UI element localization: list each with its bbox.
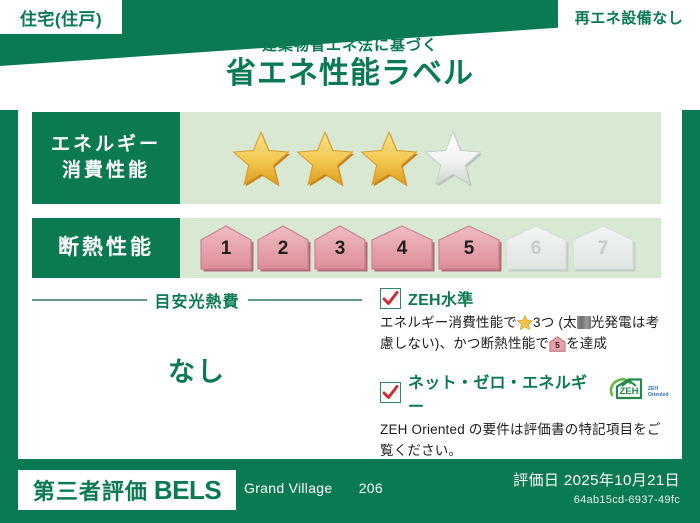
- rule-left: [32, 299, 147, 301]
- rule-right: [248, 299, 363, 301]
- insulation-performance-label: 断熱性能: [32, 218, 180, 278]
- header-title-group: 建築物省エネ法に基づく 省エネ性能ラベル: [0, 34, 700, 104]
- star-filled-icon: [232, 130, 290, 186]
- svg-text:Oriented: Oriented: [648, 392, 669, 398]
- estimated-utility-cost-heading: 目安光熱費: [32, 288, 362, 312]
- svg-text:ZEH: ZEH: [620, 386, 639, 397]
- criterion-zeh-standard-header: ZEH水準: [380, 286, 670, 310]
- insulation-level-inactive: 6: [503, 224, 569, 272]
- estimated-utility-cost-title: 目安光熱費: [155, 288, 240, 312]
- energy-label-line2: 消費性能: [62, 158, 150, 184]
- bels-energy-label: 住宅(住戸) 再エネ設備なし 建築物省エネ法に基づく 省エネ性能ラベル エネルギ…: [0, 0, 700, 523]
- energy-performance-row: エネルギー 消費性能: [32, 112, 661, 204]
- house-shape-icon: [255, 224, 311, 272]
- criterion-zeh-standard: ZEH水準 エネルギー消費性能で3つ (太光発電は考慮しない)、かつ断熱性能で5…: [380, 286, 670, 355]
- evaluation-date-label: 評価日: [513, 472, 559, 489]
- tag-renewable-equipment: 再エネ設備なし: [558, 0, 700, 34]
- insulation-level-active: 5: [436, 224, 502, 272]
- insulation-level-inactive: 7: [570, 224, 636, 272]
- house-shape-icon: [503, 224, 569, 272]
- project-info: Grand Village 206: [244, 480, 383, 496]
- criterion-net-zero-energy-header: ネット・ゼロ・エネルギー ZEH ZEH Oriented: [380, 369, 670, 417]
- bels-third-party-label: 第三者評価: [33, 474, 148, 506]
- insulation-level-active: 1: [198, 224, 254, 272]
- tag-building-type: 住宅(住戸): [0, 0, 122, 34]
- star-filled-icon: [296, 130, 354, 186]
- star-filled-icon: [360, 130, 418, 186]
- criterion-zeh-standard-title: ZEH水準: [408, 286, 474, 310]
- insulation-level-active: 4: [369, 224, 435, 272]
- estimated-utility-cost-value: なし: [32, 350, 362, 389]
- criteria-block: ZEH水準 エネルギー消費性能で3つ (太光発電は考慮しない)、かつ断熱性能で5…: [380, 286, 670, 472]
- header-subtitle: 建築物省エネ法に基づく: [0, 38, 700, 55]
- star-rating: [180, 130, 482, 186]
- bels-badge: 第三者評価 BELS: [18, 470, 236, 510]
- evaluation-info: 評価日 2025年10月21日 64ab15cd-6937-49fc: [513, 469, 680, 506]
- criterion-net-zero-energy: ネット・ゼロ・エネルギー ZEH ZEH Oriented ZEH Orient…: [380, 369, 670, 462]
- bels-logo-text: BELS: [154, 475, 221, 506]
- evaluation-id: 64ab15cd-6937-49fc: [513, 494, 680, 506]
- inline-house-level-icon: 5: [549, 336, 566, 352]
- project-name: Grand Village: [244, 480, 332, 496]
- star-empty-icon: [424, 130, 482, 186]
- house-shape-icon: [369, 224, 435, 272]
- energy-rating-content: [180, 112, 661, 204]
- house-shape-icon: [436, 224, 502, 272]
- criterion-zeh-standard-body: エネルギー消費性能で3つ (太光発電は考慮しない)、かつ断熱性能で5を達成: [380, 313, 670, 355]
- footer-bar: 第三者評価 BELS Grand Village 206 評価日 2025年10…: [0, 459, 700, 523]
- house-shape-icon: [570, 224, 636, 272]
- criterion-net-zero-energy-title: ネット・ゼロ・エネルギー: [408, 369, 599, 417]
- evaluation-date-line: 評価日 2025年10月21日: [513, 469, 680, 490]
- insulation-rating-content: 1234567: [180, 218, 661, 278]
- house-shape-icon: [198, 224, 254, 272]
- svg-text:5: 5: [555, 340, 560, 350]
- page-title: 省エネ性能ラベル: [0, 57, 700, 92]
- redacted-character: [577, 316, 591, 329]
- energy-label-line1: エネルギー: [51, 132, 161, 158]
- insulation-performance-row: 断熱性能 1234567: [32, 218, 661, 278]
- insulation-level-active: 3: [312, 224, 368, 272]
- checkbox-checked-icon[interactable]: [380, 288, 401, 309]
- criterion-net-zero-energy-body: ZEH Oriented の要件は評価書の特記項目をご覧ください。: [380, 420, 670, 462]
- house-shape-icon: [312, 224, 368, 272]
- zeh-body-part-d: を達成: [566, 336, 607, 351]
- energy-performance-label: エネルギー 消費性能: [32, 112, 180, 204]
- estimated-utility-cost-block: 目安光熱費 なし: [32, 288, 362, 448]
- checkbox-checked-icon-2[interactable]: [380, 382, 401, 403]
- evaluation-date-value: 2025年10月21日: [564, 472, 680, 489]
- insulation-level-active: 2: [255, 224, 311, 272]
- insulation-level-scale: 1234567: [180, 224, 636, 272]
- zeh-oriented-logo: ZEH ZEH Oriented: [608, 377, 670, 408]
- unit-number: 206: [359, 480, 383, 496]
- zeh-body-part-a: エネルギー消費性能で: [380, 315, 517, 330]
- zeh-body-part-b: 3つ (太: [533, 315, 577, 330]
- inline-star-icon: [517, 315, 533, 330]
